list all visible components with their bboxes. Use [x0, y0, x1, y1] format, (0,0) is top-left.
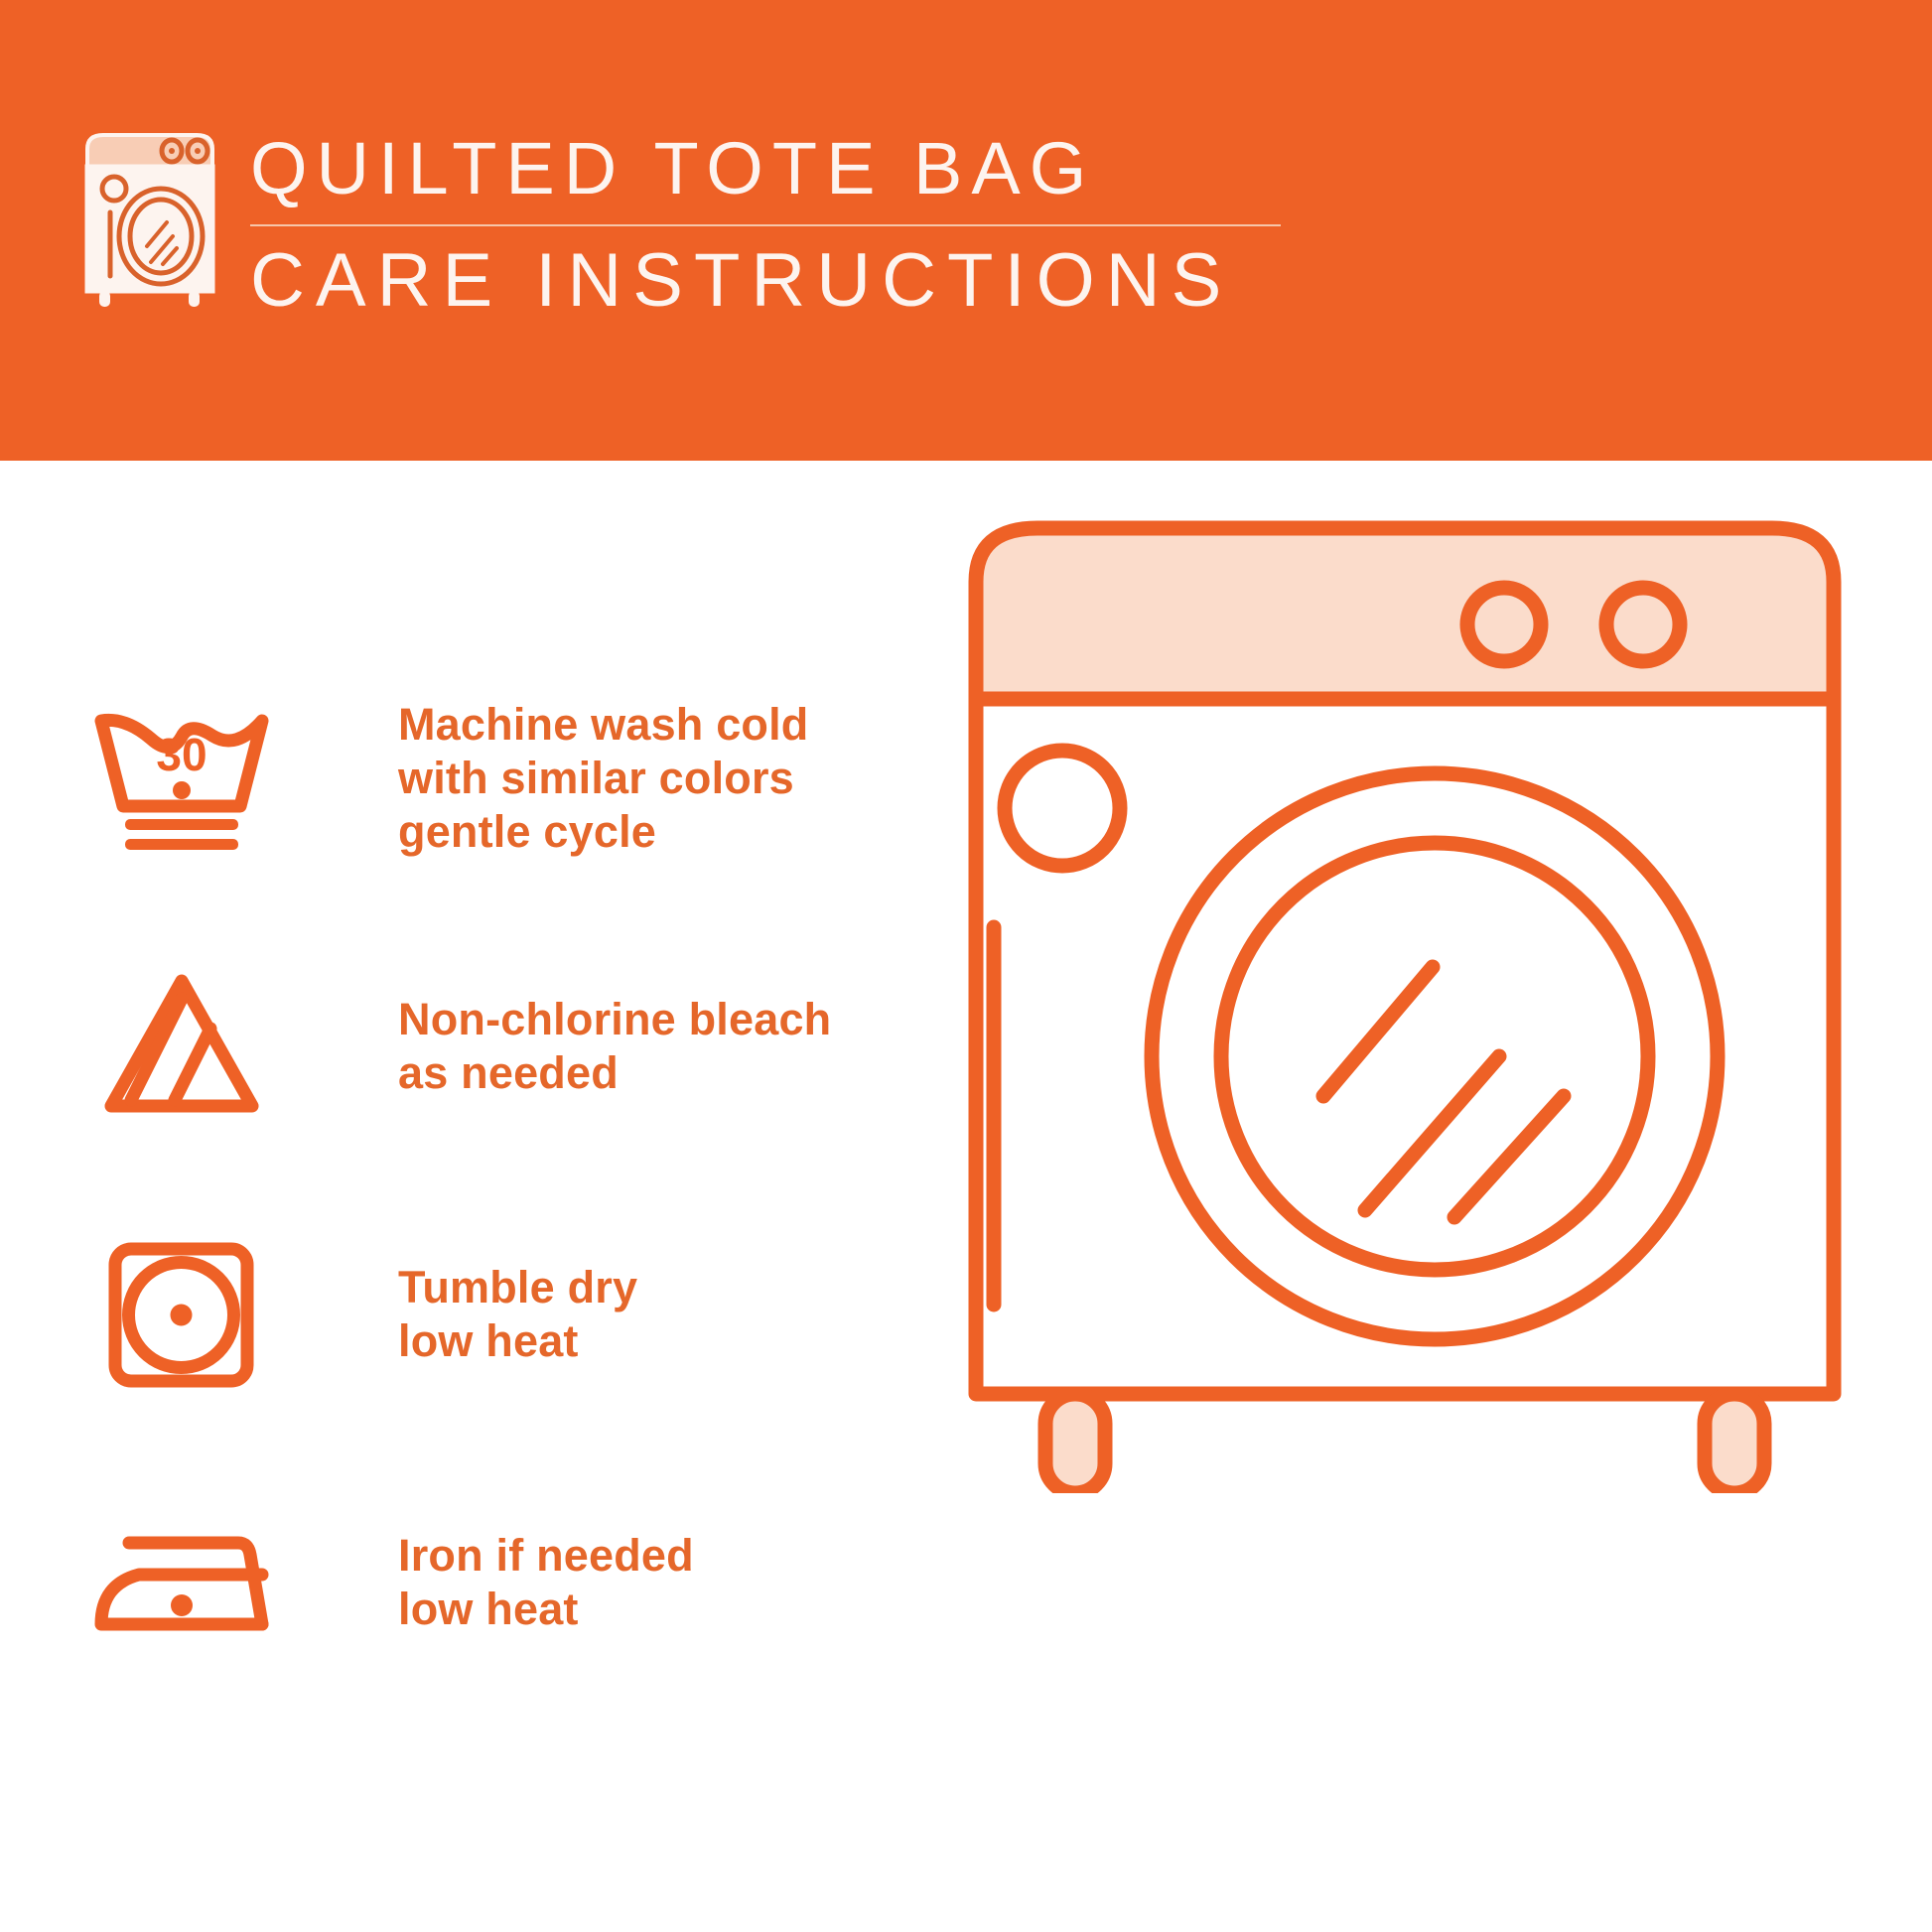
- page-subtitle: CARE INSTRUCTIONS: [250, 236, 1293, 326]
- title-divider: [250, 224, 1281, 226]
- care-row-machine-wash: 30 Machine wash cold with similar colors…: [87, 644, 911, 912]
- tumble-dry-low-heat-icon: [87, 1235, 286, 1394]
- care-line: gentle cycle: [398, 805, 809, 859]
- detergent-dispenser[interactable]: [1005, 751, 1120, 866]
- care-line: Tumble dry: [398, 1261, 637, 1314]
- care-line: Iron if needed: [398, 1529, 694, 1583]
- drum-inner-ring: [1221, 843, 1648, 1270]
- non-chlorine-bleach-triangle-icon: [87, 967, 286, 1126]
- care-instruction-list: 30 Machine wash cold with similar colors…: [87, 644, 911, 1717]
- care-line: with similar colors: [398, 752, 809, 805]
- washing-machine-illustration: [948, 500, 1862, 1493]
- wash-temp-label: 30: [156, 729, 207, 780]
- care-line: Non-chlorine bleach: [398, 993, 831, 1046]
- care-row-iron: Iron if needed low heat: [87, 1449, 911, 1717]
- drum-slash-1: [1323, 967, 1433, 1096]
- header-title-group: QUILTED TOTE BAG CARE INSTRUCTIONS: [250, 127, 1293, 326]
- care-line: as needed: [398, 1046, 831, 1100]
- care-row-bleach: Non-chlorine bleach as needed: [87, 912, 911, 1180]
- care-line: low heat: [398, 1314, 637, 1368]
- drum-slash-3: [1454, 1096, 1564, 1217]
- washing-machine-icon: [79, 127, 228, 311]
- care-row-tumble-dry: Tumble dry low heat: [87, 1180, 911, 1449]
- iron-low-heat-icon: [87, 1503, 286, 1662]
- care-line: Machine wash cold: [398, 698, 809, 752]
- care-label-iron: Iron if needed low heat: [286, 1529, 694, 1636]
- drum-outer-ring: [1152, 773, 1718, 1339]
- header-content: QUILTED TOTE BAG CARE INSTRUCTIONS: [79, 127, 1293, 326]
- leg-left: [1045, 1394, 1105, 1493]
- wash-basin-30-gentle-icon: 30: [87, 699, 286, 858]
- leg-right: [1705, 1394, 1764, 1493]
- header-banner: QUILTED TOTE BAG CARE INSTRUCTIONS: [0, 0, 1932, 461]
- page-title: QUILTED TOTE BAG: [250, 127, 1293, 210]
- content-area: 30 Machine wash cold with similar colors…: [0, 461, 1932, 1932]
- care-line: low heat: [398, 1583, 694, 1636]
- care-label-tumble-dry: Tumble dry low heat: [286, 1261, 637, 1368]
- care-label-bleach: Non-chlorine bleach as needed: [286, 993, 831, 1100]
- care-label-machine-wash: Machine wash cold with similar colors ge…: [286, 698, 809, 859]
- control-panel: [976, 528, 1834, 699]
